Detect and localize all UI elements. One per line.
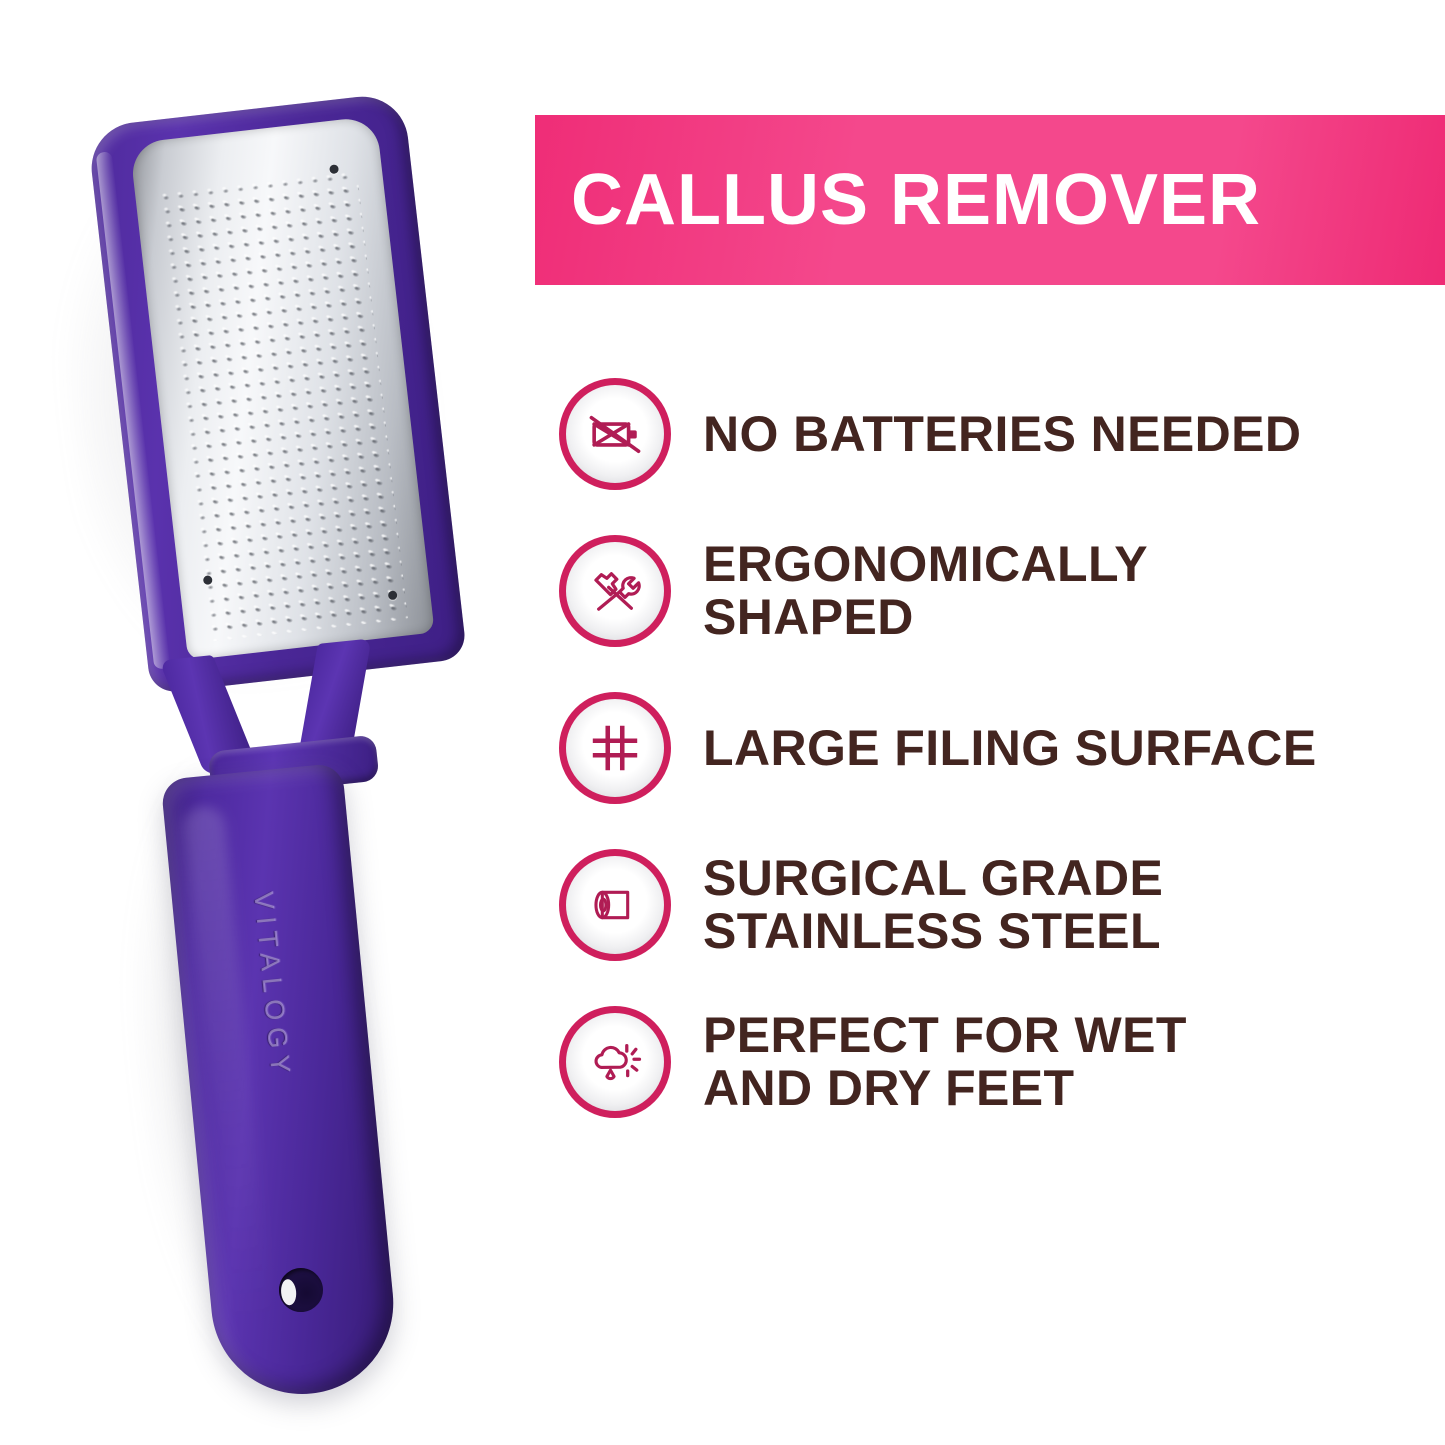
feature-label: SURGICAL GRADE STAINLESS STEEL xyxy=(703,852,1163,958)
steel-roll-icon xyxy=(586,876,644,934)
feature-icon-badge xyxy=(559,378,671,490)
feature-icon-badge xyxy=(559,1006,671,1118)
title-banner: CALLUS REMOVER xyxy=(535,115,1445,285)
callus-remover-tool: VITALOGY xyxy=(0,0,535,1445)
feature-item-large-filing-surface: LARGE FILING SURFACE xyxy=(535,692,1445,804)
feature-icon-badge xyxy=(559,849,671,961)
feature-icon-badge xyxy=(559,692,671,804)
brand-name-embossed: VITALOGY xyxy=(247,890,296,1081)
feature-label: PERFECT FOR WET AND DRY FEET xyxy=(703,1009,1187,1115)
hammer-wrench-icon xyxy=(586,562,644,620)
feature-label: NO BATTERIES NEEDED xyxy=(703,408,1301,461)
feature-item-no-batteries: NO BATTERIES NEEDED xyxy=(535,378,1445,490)
feature-item-stainless-steel: SURGICAL GRADE STAINLESS STEEL xyxy=(535,849,1445,961)
feature-item-ergonomically-shaped: ERGONOMICALLY SHAPED xyxy=(535,535,1445,647)
page-title: CALLUS REMOVER xyxy=(571,164,1261,236)
product-infographic: VITALOGY CALLUS REMOVER xyxy=(0,0,1445,1445)
feature-label: LARGE FILING SURFACE xyxy=(703,722,1317,775)
grid-hash-icon xyxy=(586,719,644,777)
feature-label: ERGONOMICALLY SHAPED xyxy=(703,538,1148,644)
hanging-hole xyxy=(277,1266,325,1314)
product-photo: VITALOGY xyxy=(0,0,535,1445)
feature-item-wet-and-dry: PERFECT FOR WET AND DRY FEET xyxy=(535,1006,1445,1118)
feature-icon-badge xyxy=(559,535,671,647)
cloud-rain-sun-icon xyxy=(586,1033,644,1091)
content-column: CALLUS REMOVER NO BATTERIES NEEDED xyxy=(535,0,1445,1445)
feature-list: NO BATTERIES NEEDED ERGONOMICALLY SHAPED xyxy=(535,378,1445,1163)
no-battery-icon xyxy=(586,405,644,463)
soft-touch-handle: VITALOGY xyxy=(160,763,401,1403)
